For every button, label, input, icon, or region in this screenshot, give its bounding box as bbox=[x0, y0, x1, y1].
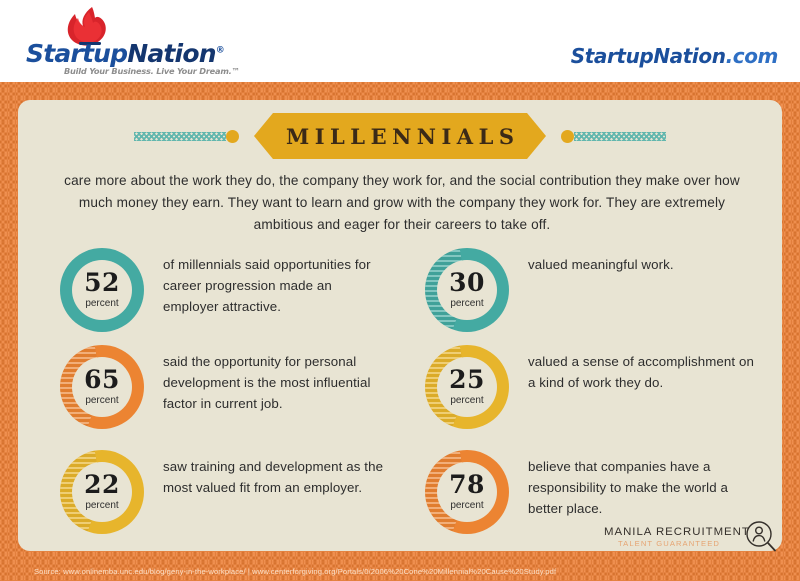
manila-recruitment-logo[interactable]: MANILA RECRUITMENT TALENT GUARANTEED bbox=[604, 524, 780, 558]
stat-unit-label: percent bbox=[425, 298, 509, 309]
stat-description: valued meaningful work. bbox=[528, 248, 674, 275]
stat-item: 25percentvalued a sense of accomplishmen… bbox=[425, 345, 755, 429]
source-footnote: Source: www.onlinemba.unc.edu/blog/geny-… bbox=[34, 567, 774, 576]
decor-dot-icon bbox=[561, 130, 574, 143]
manila-name: MANILA RECRUITMENT bbox=[604, 526, 750, 538]
site-url-name: StartupNation bbox=[571, 44, 726, 68]
stat-unit-label: percent bbox=[60, 298, 144, 309]
stat-unit-label: percent bbox=[425, 395, 509, 406]
logo-tagline: Build Your Business. Live Your Dream.™ bbox=[64, 66, 240, 76]
stat-item: 30percentvalued meaningful work. bbox=[425, 248, 755, 332]
stat-ring: 65percent bbox=[60, 345, 144, 429]
stat-unit-label: percent bbox=[425, 500, 509, 511]
stat-value: 65 bbox=[60, 367, 144, 392]
left-decor-line bbox=[134, 131, 239, 142]
logo-registered-mark: ® bbox=[216, 46, 224, 56]
logo-word-nation: Nation bbox=[127, 39, 216, 68]
stat-value: 78 bbox=[425, 472, 509, 497]
braid-pattern-icon bbox=[574, 132, 666, 141]
infographic-page: StartupNation® Build Your Business. Live… bbox=[0, 0, 800, 581]
stat-value: 22 bbox=[60, 472, 144, 497]
page-title: MILLENNIALS bbox=[280, 124, 519, 149]
stat-description: believe that companies have a responsibi… bbox=[528, 450, 755, 519]
magnifier-person-icon bbox=[744, 520, 778, 554]
logo-word-startup: Startup bbox=[26, 39, 127, 68]
millennials-banner: MILLENNIALS bbox=[254, 113, 546, 159]
site-url-tld: .com bbox=[726, 44, 778, 68]
stat-ring: 78percent bbox=[425, 450, 509, 534]
stat-value: 25 bbox=[425, 367, 509, 392]
stat-item: 52percentof millennials said opportuniti… bbox=[60, 248, 390, 332]
manila-tagline: TALENT GUARANTEED bbox=[618, 539, 720, 548]
stat-description: of millennials said opportunities for ca… bbox=[163, 248, 390, 317]
stat-item: 22percentsaw training and development as… bbox=[60, 450, 390, 534]
right-decor-line bbox=[561, 131, 666, 142]
stat-item: 78percentbelieve that companies have a r… bbox=[425, 450, 755, 534]
startupnation-logo[interactable]: StartupNation® Build Your Business. Live… bbox=[26, 6, 216, 78]
title-row: MILLENNIALS bbox=[18, 113, 782, 159]
intro-paragraph: care more about the work they do, the co… bbox=[60, 170, 744, 236]
stat-unit-label: percent bbox=[60, 395, 144, 406]
stat-ring: 30percent bbox=[425, 248, 509, 332]
stat-ring: 52percent bbox=[60, 248, 144, 332]
site-url[interactable]: StartupNation.com bbox=[571, 44, 778, 68]
stat-ring: 22percent bbox=[60, 450, 144, 534]
stat-item: 65percentsaid the opportunity for person… bbox=[60, 345, 390, 429]
braid-pattern-icon bbox=[134, 132, 226, 141]
stat-value: 52 bbox=[60, 270, 144, 295]
logo-wordmark: StartupNation® bbox=[26, 39, 224, 68]
decor-dot-icon bbox=[226, 130, 239, 143]
header-bar: StartupNation® Build Your Business. Live… bbox=[0, 0, 800, 82]
stat-unit-label: percent bbox=[60, 500, 144, 511]
stat-ring: 25percent bbox=[425, 345, 509, 429]
stat-description: said the opportunity for personal develo… bbox=[163, 345, 390, 414]
stats-grid: 52percentof millennials said opportuniti… bbox=[60, 248, 760, 538]
stat-description: saw training and development as the most… bbox=[163, 450, 390, 498]
stat-description: valued a sense of accomplishment on a ki… bbox=[528, 345, 755, 393]
stat-value: 30 bbox=[425, 270, 509, 295]
